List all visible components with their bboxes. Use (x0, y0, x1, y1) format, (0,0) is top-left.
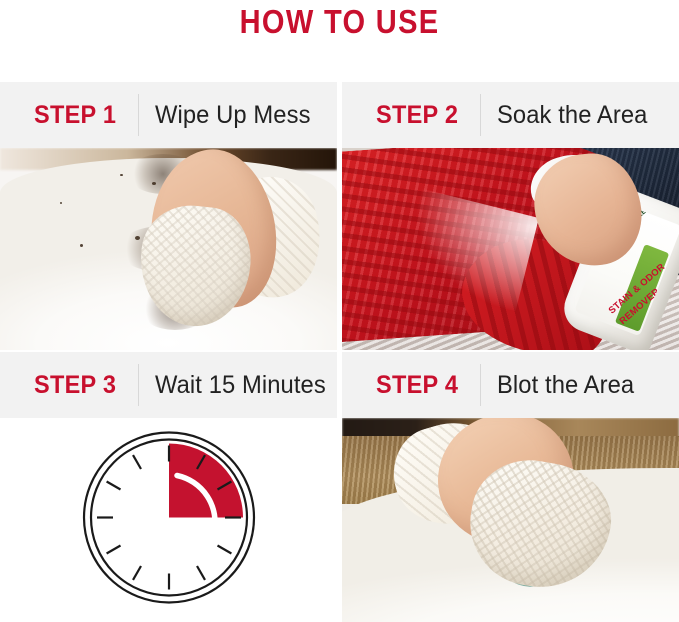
step-card-3: STEP 3 Wait 15 Minutes (0, 352, 337, 622)
dirt-fleck (135, 236, 140, 240)
step-header-3: STEP 3 Wait 15 Minutes (0, 352, 337, 418)
dirt-fleck (80, 244, 83, 247)
step-header-4: STEP 4 Blot the Area (342, 352, 679, 418)
dirt-fleck (120, 174, 123, 176)
step-header-1: STEP 1 Wipe Up Mess (0, 82, 337, 148)
clock-svg (81, 430, 257, 606)
step-divider-3 (138, 364, 139, 406)
step-label-3: Wait 15 Minutes (155, 371, 326, 400)
step-label-1: Wipe Up Mess (155, 101, 311, 130)
step-label-2: Soak the Area (497, 101, 647, 130)
step-number-2: STEP 2 (376, 101, 474, 130)
page-title-text: HOW TO USE (240, 2, 440, 42)
step-label-4: Blot the Area (497, 371, 634, 400)
step-header-2: STEP 2 Soak the Area (342, 82, 679, 148)
step-card-1: STEP 1 Wipe Up Mess (0, 82, 337, 350)
step-number-4: STEP 4 (376, 371, 474, 400)
steps-grid: STEP 1 Wipe Up Mess (0, 82, 679, 622)
clock-wedge (169, 444, 243, 518)
step-image-2: NATURE'S MIRACLE STAIN & ODOR REMOVER (342, 148, 679, 350)
step-number-3: STEP 3 (34, 371, 132, 400)
dirt-fleck (152, 182, 156, 185)
clock-illustration (81, 430, 257, 611)
step-divider-2 (480, 94, 481, 136)
step-card-2: STEP 2 Soak the Area NATURE'S MIRACLE ST… (342, 82, 679, 350)
step-divider-4 (480, 364, 481, 406)
step-card-4: STEP 4 Blot the Area (342, 352, 679, 622)
page-title: HOW TO USE (0, 0, 679, 82)
step-divider-1 (138, 94, 139, 136)
step-image-3 (0, 418, 337, 622)
step-number-1: STEP 1 (34, 101, 132, 130)
step-image-4 (342, 418, 679, 622)
dirt-fleck (60, 202, 62, 204)
step-image-1 (0, 148, 337, 350)
